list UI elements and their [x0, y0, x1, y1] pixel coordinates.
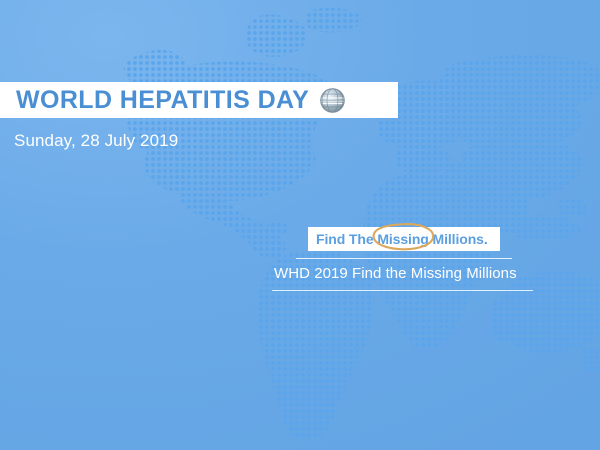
caption-text: WHD 2019 Find the Missing Millions: [274, 265, 517, 282]
title-bar: WORLD HEPATITIS DAY: [0, 82, 398, 118]
caption-rule-top: [296, 258, 512, 259]
slogan-banner: Find The Missing Millions.: [308, 227, 500, 251]
slogan-text: Find The Missing Millions.: [316, 231, 488, 247]
caption-rule-bottom: [272, 290, 533, 291]
event-date: Sunday, 28 July 2019: [14, 131, 178, 151]
world-hepatitis-day-poster: WORLD HEPATITIS DAY: [0, 0, 600, 450]
globe-icon: [319, 87, 346, 114]
dotted-world-map: [0, 0, 600, 450]
page-title: WORLD HEPATITIS DAY: [16, 88, 309, 113]
